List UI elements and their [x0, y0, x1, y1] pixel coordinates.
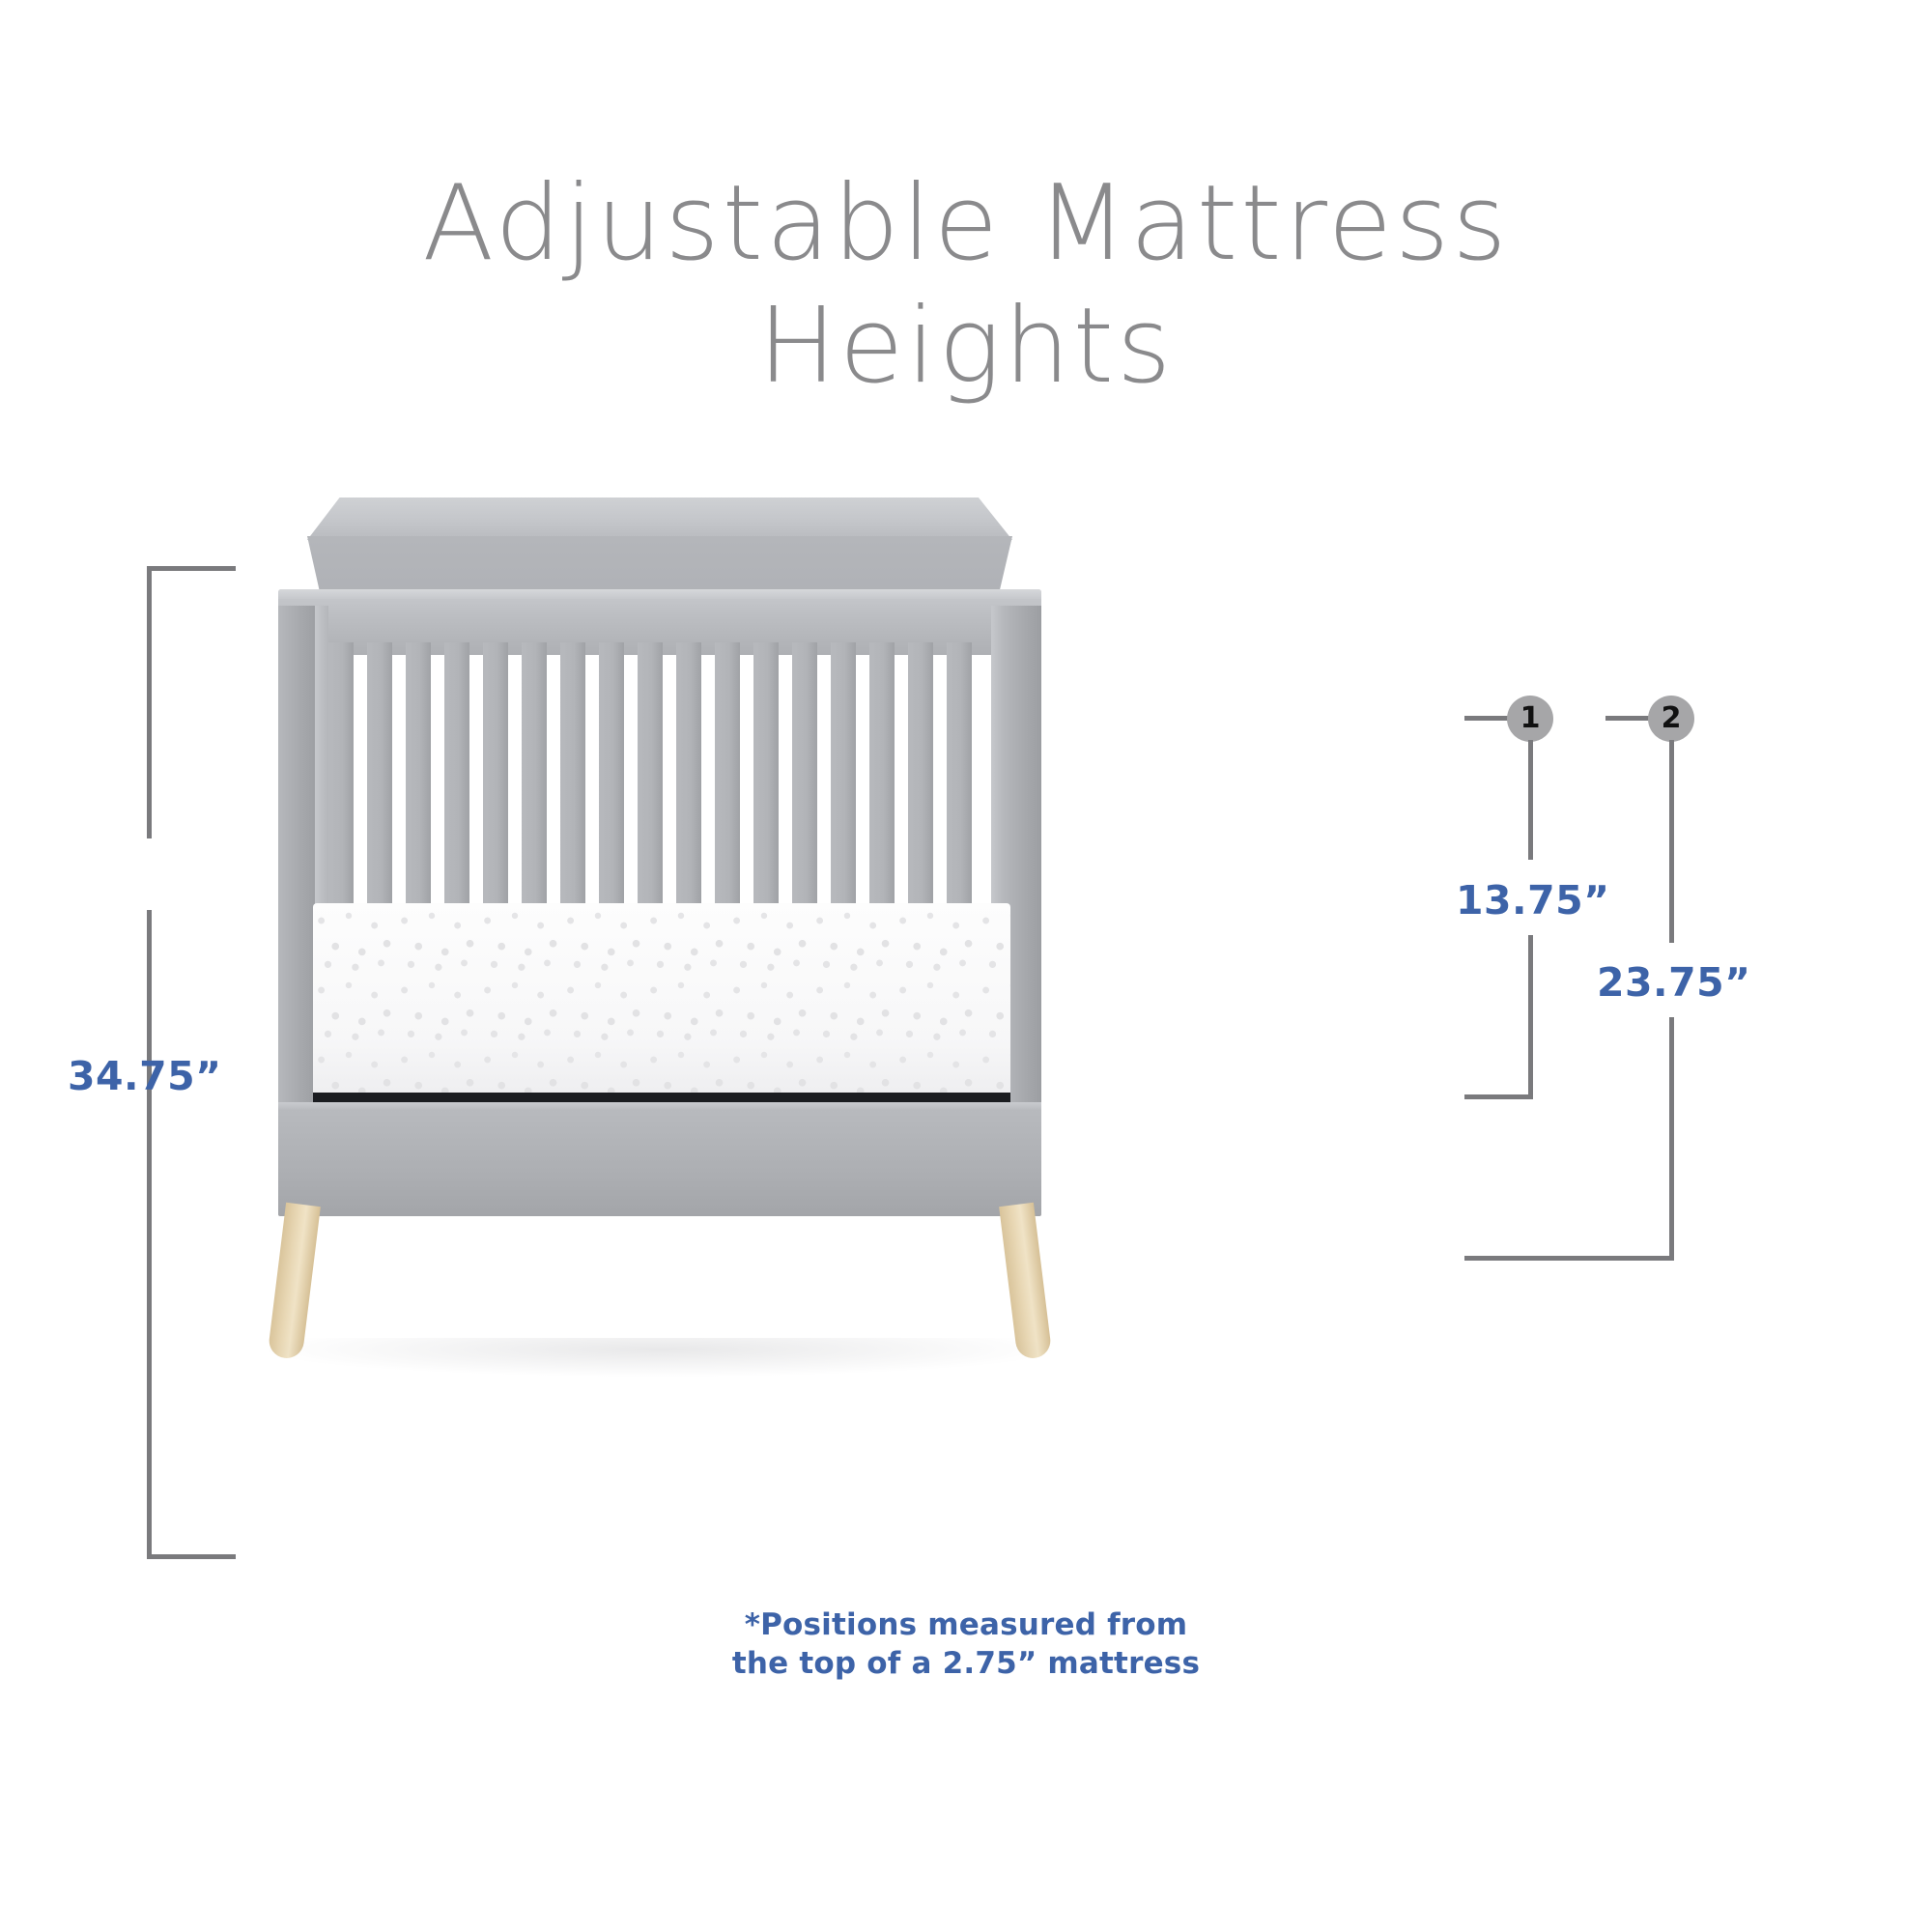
position-1-badge[interactable]: 1: [1507, 696, 1553, 742]
page-title-line-2: Heights: [0, 285, 1932, 408]
position-1-line-lower: [1528, 935, 1533, 1099]
crib-illustration: [269, 488, 1051, 1550]
page-title-line-1: Adjustable Mattress: [0, 162, 1932, 285]
footnote-line-1: *Positions measured from: [0, 1605, 1932, 1644]
footnote-line-2: the top of a 2.75” mattress: [0, 1644, 1932, 1683]
footnote: *Positions measured from the top of a 2.…: [0, 1605, 1932, 1684]
overall-height-label: 34.75”: [68, 1053, 222, 1099]
crib-front-rail-highlight: [278, 589, 1041, 599]
crib-floor-shadow: [269, 1338, 1051, 1377]
position-1-bottom-tick: [1464, 1094, 1533, 1099]
position-2-line-lower: [1669, 1017, 1674, 1259]
overall-height-bottom-tick: [147, 1554, 236, 1559]
position-2-badge[interactable]: 2: [1648, 696, 1694, 742]
crib-leg-left: [268, 1203, 321, 1360]
page-title: Adjustable Mattress Heights: [0, 162, 1932, 409]
position-1-line-upper: [1528, 740, 1533, 860]
crib-back-rail-top: [307, 497, 1012, 540]
position-1-label: 13.75”: [1456, 877, 1610, 923]
position-2-bottom-tick: [1464, 1256, 1674, 1261]
crib-base-panel: [278, 1102, 1041, 1216]
crib-base-panel-highlight: [278, 1102, 1041, 1111]
crib-mattress: [313, 903, 1010, 1096]
overall-height-line-lower: [147, 910, 152, 1559]
position-2-label: 23.75”: [1597, 959, 1751, 1006]
overall-height-line-upper: [147, 566, 152, 838]
overall-height-top-tick: [147, 566, 236, 571]
crib-left-post: [278, 606, 317, 1118]
position-2-line-upper: [1669, 740, 1674, 943]
diagram-canvas: Adjustable Mattress Heights: [0, 0, 1932, 1932]
crib-leg-right: [999, 1203, 1052, 1360]
